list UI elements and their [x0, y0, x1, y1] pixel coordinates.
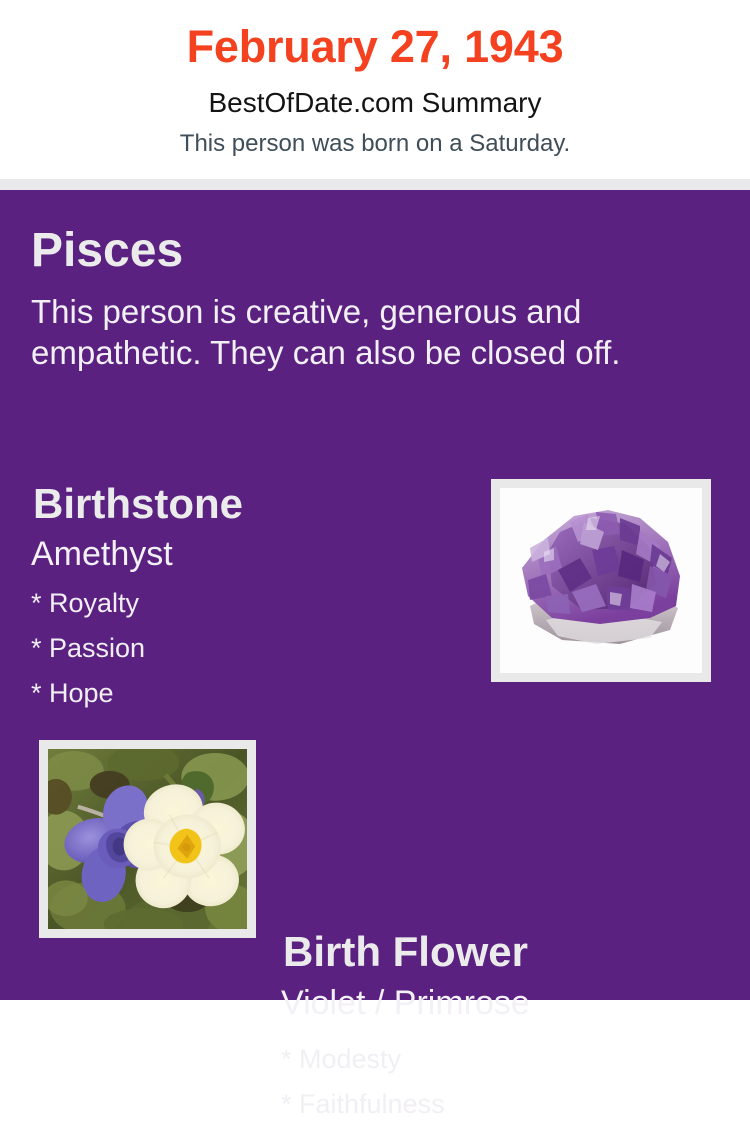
list-item: * Modesty [281, 1037, 445, 1082]
header: February 27, 1943 BestOfDate.com Summary… [0, 0, 750, 179]
list-item: * Faithfulness [281, 1082, 445, 1127]
birth-flower-traits-list: * Modesty * Faithfulness [281, 1037, 445, 1127]
list-item: * Passion [31, 626, 145, 671]
birthstone-name: Amethyst [31, 534, 173, 574]
violet-and-primrose-icon [48, 749, 247, 929]
zodiac-description: This person is creative, generous and em… [31, 291, 711, 373]
zodiac-sign-title: Pisces [31, 223, 183, 279]
summary-card: February 27, 1943 BestOfDate.com Summary… [0, 0, 750, 1000]
page-title-date: February 27, 1943 [0, 21, 750, 73]
birthstone-heading: Birthstone [33, 480, 243, 528]
list-item: * Royalty [31, 581, 145, 626]
birthstone-photo-frame [491, 479, 711, 682]
site-name: BestOfDate.com Summary [0, 86, 750, 120]
header-divider [0, 179, 750, 190]
birth-flower-photo-frame [39, 740, 256, 938]
birth-flower-heading: Birth Flower [283, 928, 528, 976]
list-item: * Hope [31, 671, 145, 716]
amethyst-crystal-icon [500, 488, 702, 673]
birth-flower-name: Violet / Primrose [281, 983, 530, 1023]
birth-flower-photo [48, 749, 247, 929]
birth-day-note: This person was born on a Saturday. [0, 129, 750, 159]
birthstone-photo [500, 488, 702, 673]
birthstone-traits-list: * Royalty * Passion * Hope [31, 581, 145, 716]
